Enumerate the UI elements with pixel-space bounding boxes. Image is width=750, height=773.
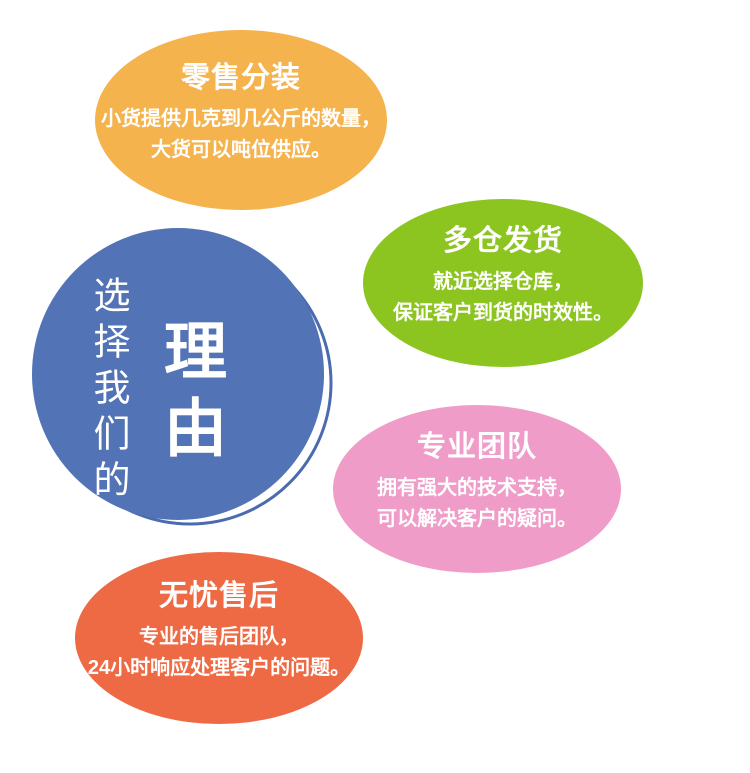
bubble-title-retail-packaging: 零售分装 — [91, 63, 391, 95]
bubble-text-professional-team: 专业团队 拥有强大的技术支持， 可以解决客户的疑问。 — [327, 432, 627, 535]
bubble-title-worry-free-after-sales: 无忧售后 — [69, 581, 369, 613]
bubble-text-multi-warehouse-shipping: 多仓发货 就近选择仓库， 保证客户到货的时效性。 — [353, 226, 653, 329]
center-badge-title: 理由 — [158, 318, 221, 472]
bubble-line: 24小时响应处理客户的问题。 — [69, 653, 369, 684]
bubble-line: 大货可以吨位供应。 — [91, 135, 391, 166]
infographic-canvas: 零售分装 小货提供几克到几公斤的数量， 大货可以吨位供应。 多仓发货 就近选择仓… — [0, 0, 750, 773]
bubble-line: 专业的售后团队， — [69, 622, 369, 653]
bubble-text-retail-packaging: 零售分装 小货提供几克到几公斤的数量， 大货可以吨位供应。 — [91, 63, 391, 166]
bubble-line: 就近选择仓库， — [353, 267, 653, 298]
center-badge-subtitle: 选择我们的 — [90, 276, 127, 506]
bubble-text-worry-free-after-sales: 无忧售后 专业的售后团队， 24小时响应处理客户的问题。 — [69, 581, 369, 684]
bubble-title-multi-warehouse-shipping: 多仓发货 — [353, 226, 653, 258]
bubble-title-professional-team: 专业团队 — [327, 432, 627, 464]
bubble-line: 可以解决客户的疑问。 — [327, 504, 627, 535]
bubble-line: 保证客户到货的时效性。 — [353, 298, 653, 329]
bubble-line: 拥有强大的技术支持， — [327, 473, 627, 504]
bubble-line: 小货提供几克到几公斤的数量， — [91, 104, 391, 135]
